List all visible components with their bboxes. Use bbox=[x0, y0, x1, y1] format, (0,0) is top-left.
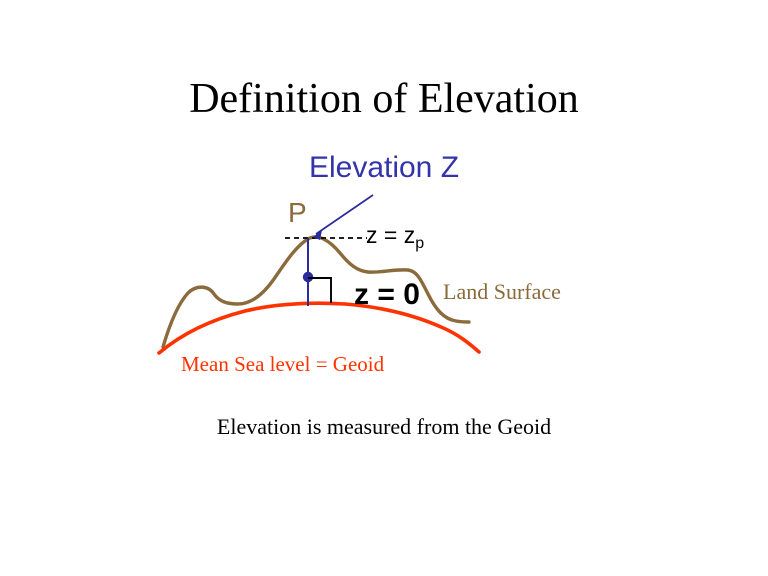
slide-canvas: Definition of Elevation Elevation Z P z … bbox=[0, 0, 768, 576]
mean-sea-level-label: Mean Sea level = Geoid bbox=[181, 354, 384, 375]
land-surface-curve bbox=[163, 237, 469, 347]
point-p-label: P bbox=[288, 199, 307, 227]
geoid-curve bbox=[159, 303, 479, 353]
z-equals-zp-label: z = zp bbox=[366, 224, 424, 247]
z-equals-zero-label: z = 0 bbox=[354, 280, 420, 310]
page-title: Definition of Elevation bbox=[0, 78, 768, 120]
elevation-pointer-line bbox=[316, 195, 373, 234]
vertex-dot bbox=[303, 272, 313, 282]
z-equals-zp-main: z = z bbox=[366, 222, 415, 248]
right-angle-marker bbox=[308, 278, 331, 303]
land-surface-label: Land Surface bbox=[443, 281, 561, 303]
z-equals-zp-subscript: p bbox=[415, 235, 424, 252]
footer-note: Elevation is measured from the Geoid bbox=[0, 416, 768, 438]
elevation-z-label: Elevation Z bbox=[0, 153, 768, 183]
